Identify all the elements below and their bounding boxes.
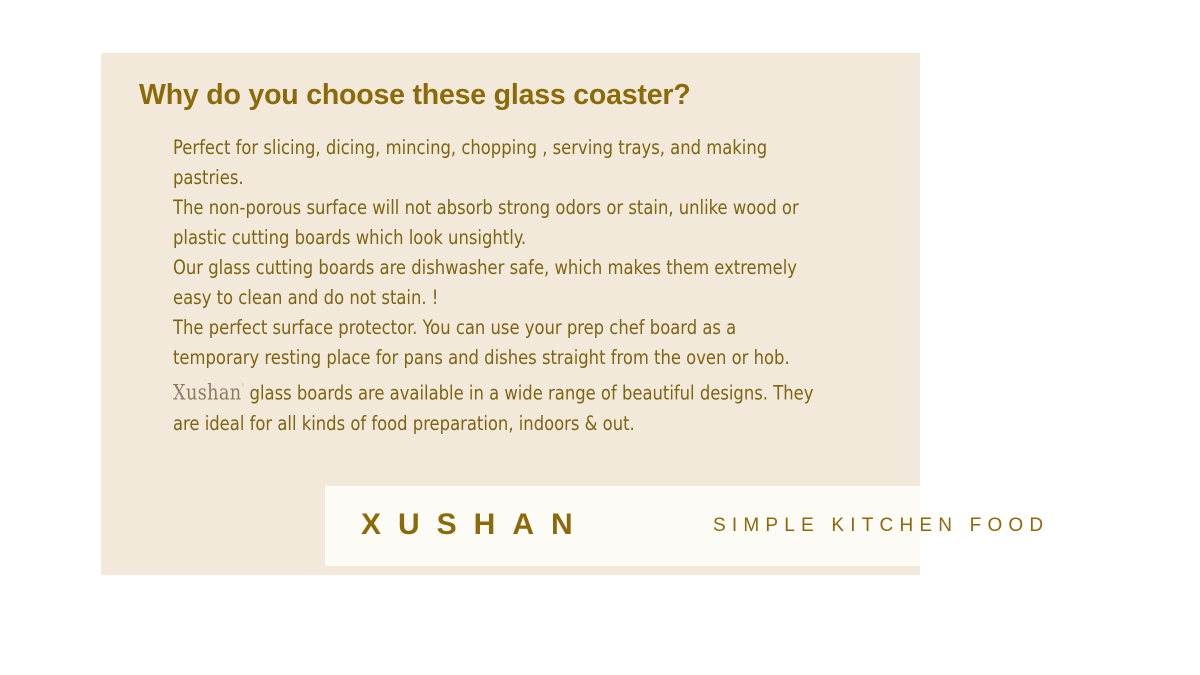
logo-wordmark: XUSHAN (361, 508, 590, 542)
body-paragraph-4: The perfect surface protector. You can u… (173, 313, 828, 373)
body-paragraph-1: Perfect for slicing, dicing, mincing, ch… (173, 133, 828, 193)
brand-word: Xushan (173, 381, 242, 405)
body-paragraph-3: Our glass cutting boards are dishwasher … (173, 253, 828, 313)
page-title: Why do you choose these glass coaster? (139, 79, 690, 112)
body-paragraph-5-rest: glass boards are available in a wide ran… (173, 382, 813, 435)
slide-canvas: Why do you choose these glass coaster? P… (0, 0, 1200, 675)
body-paragraph-5: Xushan' glass boards are available in a … (173, 373, 828, 439)
body-paragraph-2: The non-porous surface will not absorb s… (173, 193, 828, 253)
logo-tagline: SIMPLE KITCHEN FOOD (713, 515, 1049, 537)
body-copy: Perfect for slicing, dicing, mincing, ch… (173, 133, 828, 439)
